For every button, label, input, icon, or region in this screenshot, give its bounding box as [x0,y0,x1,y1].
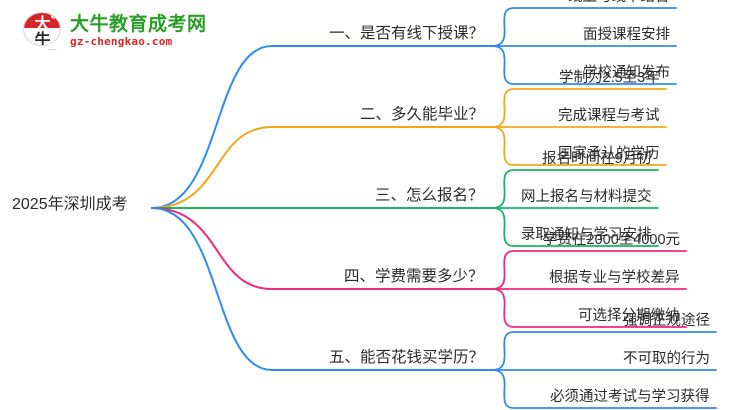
mindmap-leaf-node-1-2[interactable]: 面授课程安排 [583,26,670,44]
mindmap-leaf-node-2-2[interactable]: 完成课程与考试 [558,107,660,125]
mindmap-branch-node-1[interactable]: 一、是否有线下授课？ [329,25,484,43]
mindmap-branch-node-5[interactable]: 五、能否花钱买学历？ [329,349,484,367]
mindmap-leaf-node-5-3[interactable]: 必须通过考试与学习获得 [550,388,710,406]
mindmap-branch-node-3[interactable]: 三、怎么报名？ [375,187,484,205]
mindmap-leaf-node-3-2[interactable]: 网上报名与材料提交 [521,188,652,206]
mindmap-branch-node-2[interactable]: 二、多久能毕业？ [360,106,484,124]
mindmap-branch-node-4[interactable]: 四、学费需要多少？ [344,268,484,286]
mindmap-leaf-node-5-2[interactable]: 不可取的行为 [623,350,710,368]
mindmap-leaf-node-5-1[interactable]: 强调正规途径 [623,312,710,330]
mindmap-leaf-node-1-1[interactable]: 线上与线下结合 [568,0,670,6]
mindmap-leaf-node-4-1[interactable]: 学费在2000至4000元 [543,231,680,249]
mindmap-leaf-node-2-1[interactable]: 学制为2.5至3年 [559,69,660,87]
mindmap-root-node[interactable]: 2025年深圳成考 [12,196,128,214]
mindmap-leaf-node-4-2[interactable]: 根据专业与学校差异 [549,269,680,287]
mindmap-leaf-node-3-1[interactable]: 报名时间在9月初 [542,150,652,168]
